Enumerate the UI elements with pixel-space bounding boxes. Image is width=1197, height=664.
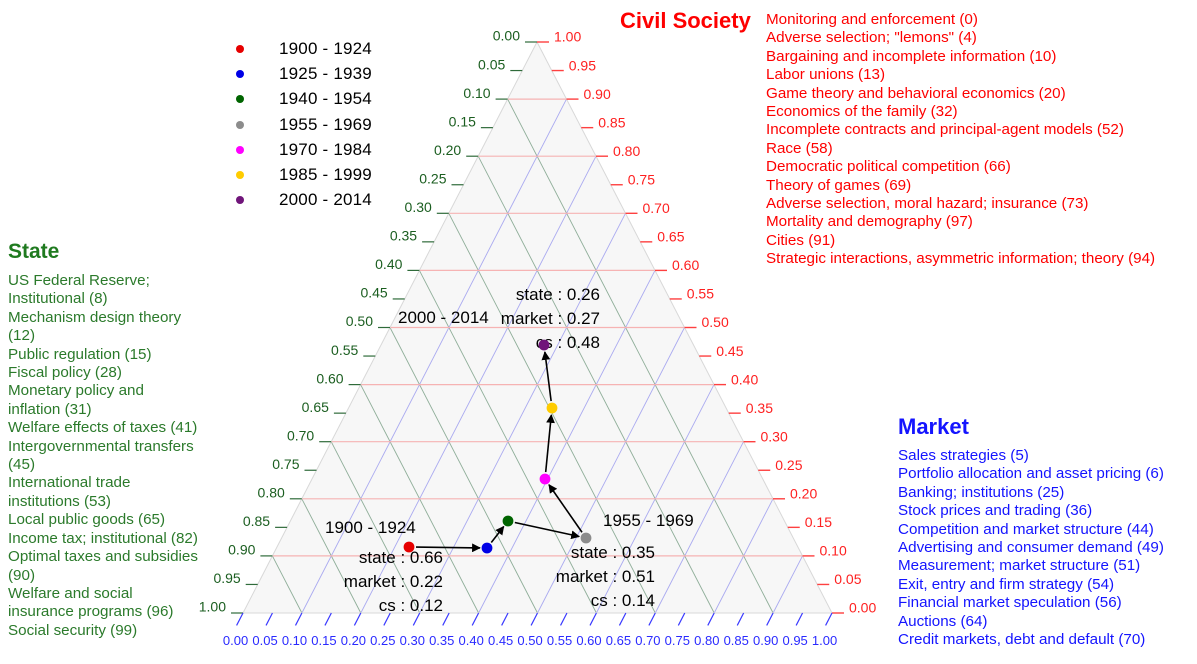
topic-list-item: Adverse selection, moral hazard; insuran… — [766, 195, 1155, 213]
topic-list-item: Race (58) — [766, 140, 1155, 158]
annotation-2000-2014-value-line: state : 0.26 — [516, 285, 600, 304]
tick-label: 0.75 — [628, 171, 655, 187]
tick-label: 1.00 — [554, 29, 581, 45]
tick-label: 0.20 — [790, 486, 817, 502]
legend-item[interactable]: 1900 - 1924 — [228, 36, 372, 61]
annotation-1955-1969-value-line: cs : 0.14 — [591, 591, 655, 610]
tick-label: 0.50 — [346, 313, 373, 329]
tick-label: 0.80 — [613, 143, 640, 159]
annotation-2000-2014-era-label: 2000 - 2014 — [398, 308, 489, 327]
tick-mark — [531, 613, 537, 625]
topic-list-item: inflation (31) — [8, 401, 240, 419]
legend-item-label: 1925 - 1939 — [279, 64, 372, 84]
legend-color-swatch-icon — [236, 196, 244, 204]
state-topic-list: US Federal Reserve;Institutional (8)Mech… — [8, 272, 240, 640]
tick-mark — [590, 613, 596, 625]
topic-list-item: Public regulation (15) — [8, 346, 240, 364]
topic-list-item: Cities (91) — [766, 232, 1155, 250]
tick-label: 0.35 — [390, 228, 417, 244]
topic-list-item: Mechanism design theory — [8, 309, 240, 327]
tick-label: 0.25 — [775, 457, 802, 473]
topic-list-item: Bargaining and incomplete information (1… — [766, 48, 1155, 66]
tick-label: 0.05 — [252, 633, 277, 648]
data-point[interactable] — [404, 542, 415, 553]
tick-label: 0.70 — [635, 633, 660, 648]
legend-item-label: 2000 - 2014 — [279, 190, 372, 210]
topic-list-item: (90) — [8, 567, 240, 585]
tick-mark — [443, 613, 449, 625]
data-point[interactable] — [581, 533, 592, 544]
tick-label: 0.40 — [459, 633, 484, 648]
tick-mark — [561, 613, 567, 625]
topic-list-item: International trade — [8, 474, 240, 492]
legend-color-swatch-icon — [236, 121, 244, 129]
data-point[interactable] — [482, 543, 493, 554]
tick-label: 0.70 — [287, 427, 314, 443]
topic-list-item: (45) — [8, 456, 240, 474]
data-point[interactable] — [547, 403, 558, 414]
data-point[interactable] — [503, 516, 514, 527]
tick-label: 0.50 — [517, 633, 542, 648]
tick-label: 0.90 — [584, 86, 611, 102]
tick-label: 0.10 — [282, 633, 307, 648]
topic-list-item: Institutional (8) — [8, 290, 240, 308]
topic-list-item: Welfare effects of taxes (41) — [8, 419, 240, 437]
annotation-1900-1924-value-line: cs : 0.12 — [379, 596, 443, 615]
topic-list-item: Fiscal policy (28) — [8, 364, 240, 382]
annotation-1955-1969-value-line: state : 0.35 — [571, 543, 655, 562]
tick-label: 0.45 — [716, 343, 743, 359]
topic-list-item: Monitoring and enforcement (0) — [766, 11, 1155, 29]
tick-label: 0.35 — [746, 400, 773, 416]
state-corner-title: State — [8, 240, 240, 264]
tick-label: 0.15 — [805, 514, 832, 530]
tick-label: 0.75 — [272, 456, 299, 472]
legend-item[interactable]: 1940 - 1954 — [228, 87, 372, 112]
civil-society-topic-list: Monitoring and enforcement (0)Adverse se… — [766, 11, 1155, 269]
topic-list-item: Advertising and consumer demand (49) — [898, 539, 1197, 557]
topic-list-item: Local public goods (65) — [8, 511, 240, 529]
legend-color-swatch-icon — [236, 45, 244, 53]
era-legend: 1900 - 19241925 - 19391940 - 19541955 - … — [228, 36, 372, 213]
topic-list-item: Monetary policy and — [8, 382, 240, 400]
tick-label: 0.85 — [243, 513, 270, 529]
topic-list-item: Portfolio allocation and asset pricing (… — [898, 465, 1197, 483]
tick-label: 0.90 — [753, 633, 778, 648]
legend-item[interactable]: 1970 - 1984 — [228, 137, 372, 162]
topic-list-item: Economics of the family (32) — [766, 103, 1155, 121]
tick-label: 0.35 — [429, 633, 454, 648]
tick-label: 0.10 — [463, 85, 490, 101]
tick-label: 0.80 — [694, 633, 719, 648]
tick-label: 0.05 — [478, 56, 505, 72]
data-point[interactable] — [539, 340, 550, 351]
tick-label: 0.95 — [569, 57, 596, 73]
legend-color-swatch-icon — [236, 95, 244, 103]
topic-list-item: Stock prices and trading (36) — [898, 502, 1197, 520]
tick-label: 0.85 — [724, 633, 749, 648]
tick-label: 0.95 — [782, 633, 807, 648]
annotation-1900-1924-value-line: market : 0.22 — [344, 572, 443, 591]
tick-label: 0.80 — [258, 485, 285, 501]
legend-item[interactable]: 2000 - 2014 — [228, 188, 372, 213]
tick-label: 0.10 — [820, 543, 847, 559]
tick-mark — [472, 613, 478, 625]
tick-label: 0.00 — [849, 600, 876, 616]
tick-label: 0.65 — [606, 633, 631, 648]
topic-list-item: institutions (53) — [8, 493, 240, 511]
tick-mark — [295, 613, 301, 625]
topic-list-item: Measurement; market structure (51) — [898, 557, 1197, 575]
legend-color-swatch-icon — [236, 70, 244, 78]
topic-list-item: US Federal Reserve; — [8, 272, 240, 290]
market-corner-block: Market Sales strategies (5)Portfolio all… — [898, 414, 1197, 649]
legend-item[interactable]: 1955 - 1969 — [228, 112, 372, 137]
state-corner-block: State US Federal Reserve;Institutional (… — [8, 240, 240, 640]
tick-mark — [678, 613, 684, 625]
topic-list-item: Sales strategies (5) — [898, 447, 1197, 465]
tick-label: 0.65 — [302, 399, 329, 415]
tick-mark — [826, 613, 832, 625]
tick-label: 0.55 — [547, 633, 572, 648]
tick-label: 0.15 — [311, 633, 336, 648]
tick-mark — [737, 613, 743, 625]
topic-list-item: Democratic political competition (66) — [766, 158, 1155, 176]
tick-label: 0.30 — [761, 428, 788, 444]
topic-list-item: Banking; institutions (25) — [898, 484, 1197, 502]
tick-mark — [649, 613, 655, 625]
tick-label: 0.60 — [672, 257, 699, 273]
topic-list-item: Labor unions (13) — [766, 66, 1155, 84]
tick-label: 0.40 — [375, 256, 402, 272]
topic-list-item: Welfare and social — [8, 585, 240, 603]
legend-item-label: 1955 - 1969 — [279, 115, 372, 135]
tick-label: 0.40 — [731, 371, 758, 387]
topic-list-item: Credit markets, debt and default (70) — [898, 631, 1197, 649]
topic-list-item: Social security (99) — [8, 622, 240, 640]
topic-list-item: Financial market speculation (56) — [898, 594, 1197, 612]
legend-item[interactable]: 1985 - 1999 — [228, 162, 372, 187]
civil-society-corner-title: Civil Society — [620, 8, 751, 34]
tick-mark — [796, 613, 802, 625]
topic-list-item: Incomplete contracts and principal-agent… — [766, 121, 1155, 139]
topic-list-item: Optimal taxes and subsidies — [8, 548, 240, 566]
tick-label: 0.20 — [434, 142, 461, 158]
topic-list-item: Exit, entry and firm strategy (54) — [898, 576, 1197, 594]
tick-label: 0.70 — [643, 200, 670, 216]
annotation-1955-1969-value-line: market : 0.51 — [556, 567, 655, 586]
tick-mark — [502, 613, 508, 625]
data-point[interactable] — [540, 474, 551, 485]
market-corner-title: Market — [898, 414, 1197, 440]
annotation-1900-1924-era-label: 1900 - 1924 — [325, 518, 416, 537]
tick-marks-market — [237, 613, 832, 625]
topic-list-item: Income tax; institutional (82) — [8, 530, 240, 548]
tick-mark — [266, 613, 272, 625]
tick-label: 0.25 — [370, 633, 395, 648]
topic-list-item: Theory of games (69) — [766, 177, 1155, 195]
tick-label: 0.20 — [341, 633, 366, 648]
legend-color-swatch-icon — [236, 171, 244, 179]
tick-label: 0.85 — [598, 114, 625, 130]
tick-mark — [619, 613, 625, 625]
legend-color-swatch-icon — [236, 146, 244, 154]
tick-label: 0.00 — [493, 28, 520, 44]
tick-mark — [767, 613, 773, 625]
topic-list-item: insurance programs (96) — [8, 603, 240, 621]
tick-label: 0.55 — [331, 342, 358, 358]
topic-list-item: Intergovernmental transfers — [8, 438, 240, 456]
topic-list-item: Strategic interactions, asymmetric infor… — [766, 250, 1155, 268]
legend-item-label: 1985 - 1999 — [279, 165, 372, 185]
topic-list-item: Auctions (64) — [898, 613, 1197, 631]
market-topic-list: Sales strategies (5)Portfolio allocation… — [898, 447, 1197, 649]
tick-label: 1.00 — [812, 633, 837, 648]
tick-label: 0.30 — [400, 633, 425, 648]
tick-label: 0.05 — [834, 571, 861, 587]
annotation-1900-1924-value-line: state : 0.66 — [359, 548, 443, 567]
annotation-2000-2014-value-line: market : 0.27 — [501, 309, 600, 328]
annotation-1955-1969-era-label: 1955 - 1969 — [603, 511, 694, 530]
tick-label: 0.65 — [657, 229, 684, 245]
tick-label: 0.60 — [576, 633, 601, 648]
topic-list-item: Adverse selection; "lemons" (4) — [766, 29, 1155, 47]
topic-list-item: Mortality and demography (97) — [766, 213, 1155, 231]
topic-list-item: (12) — [8, 327, 240, 345]
tick-label: 0.15 — [449, 113, 476, 129]
tick-label: 0.30 — [405, 199, 432, 215]
topic-list-item: Competition and market structure (44) — [898, 521, 1197, 539]
tick-label: 0.45 — [488, 633, 513, 648]
tick-labels-market: 0.000.050.100.150.200.250.300.350.400.45… — [223, 633, 837, 648]
tick-mark — [708, 613, 714, 625]
tick-label: 0.75 — [665, 633, 690, 648]
tick-label: 0.25 — [419, 170, 446, 186]
tick-label: 0.45 — [360, 285, 387, 301]
legend-item-label: 1970 - 1984 — [279, 140, 372, 160]
tick-mark — [325, 613, 331, 625]
tick-mark — [354, 613, 360, 625]
legend-item-label: 1940 - 1954 — [279, 89, 372, 109]
tick-label: 0.50 — [702, 314, 729, 330]
legend-item-label: 1900 - 1924 — [279, 39, 372, 59]
tick-label: 0.55 — [687, 286, 714, 302]
tick-label: 0.60 — [316, 370, 343, 386]
topic-list-item: Game theory and behavioral economics (20… — [766, 85, 1155, 103]
legend-item[interactable]: 1925 - 1939 — [228, 61, 372, 86]
